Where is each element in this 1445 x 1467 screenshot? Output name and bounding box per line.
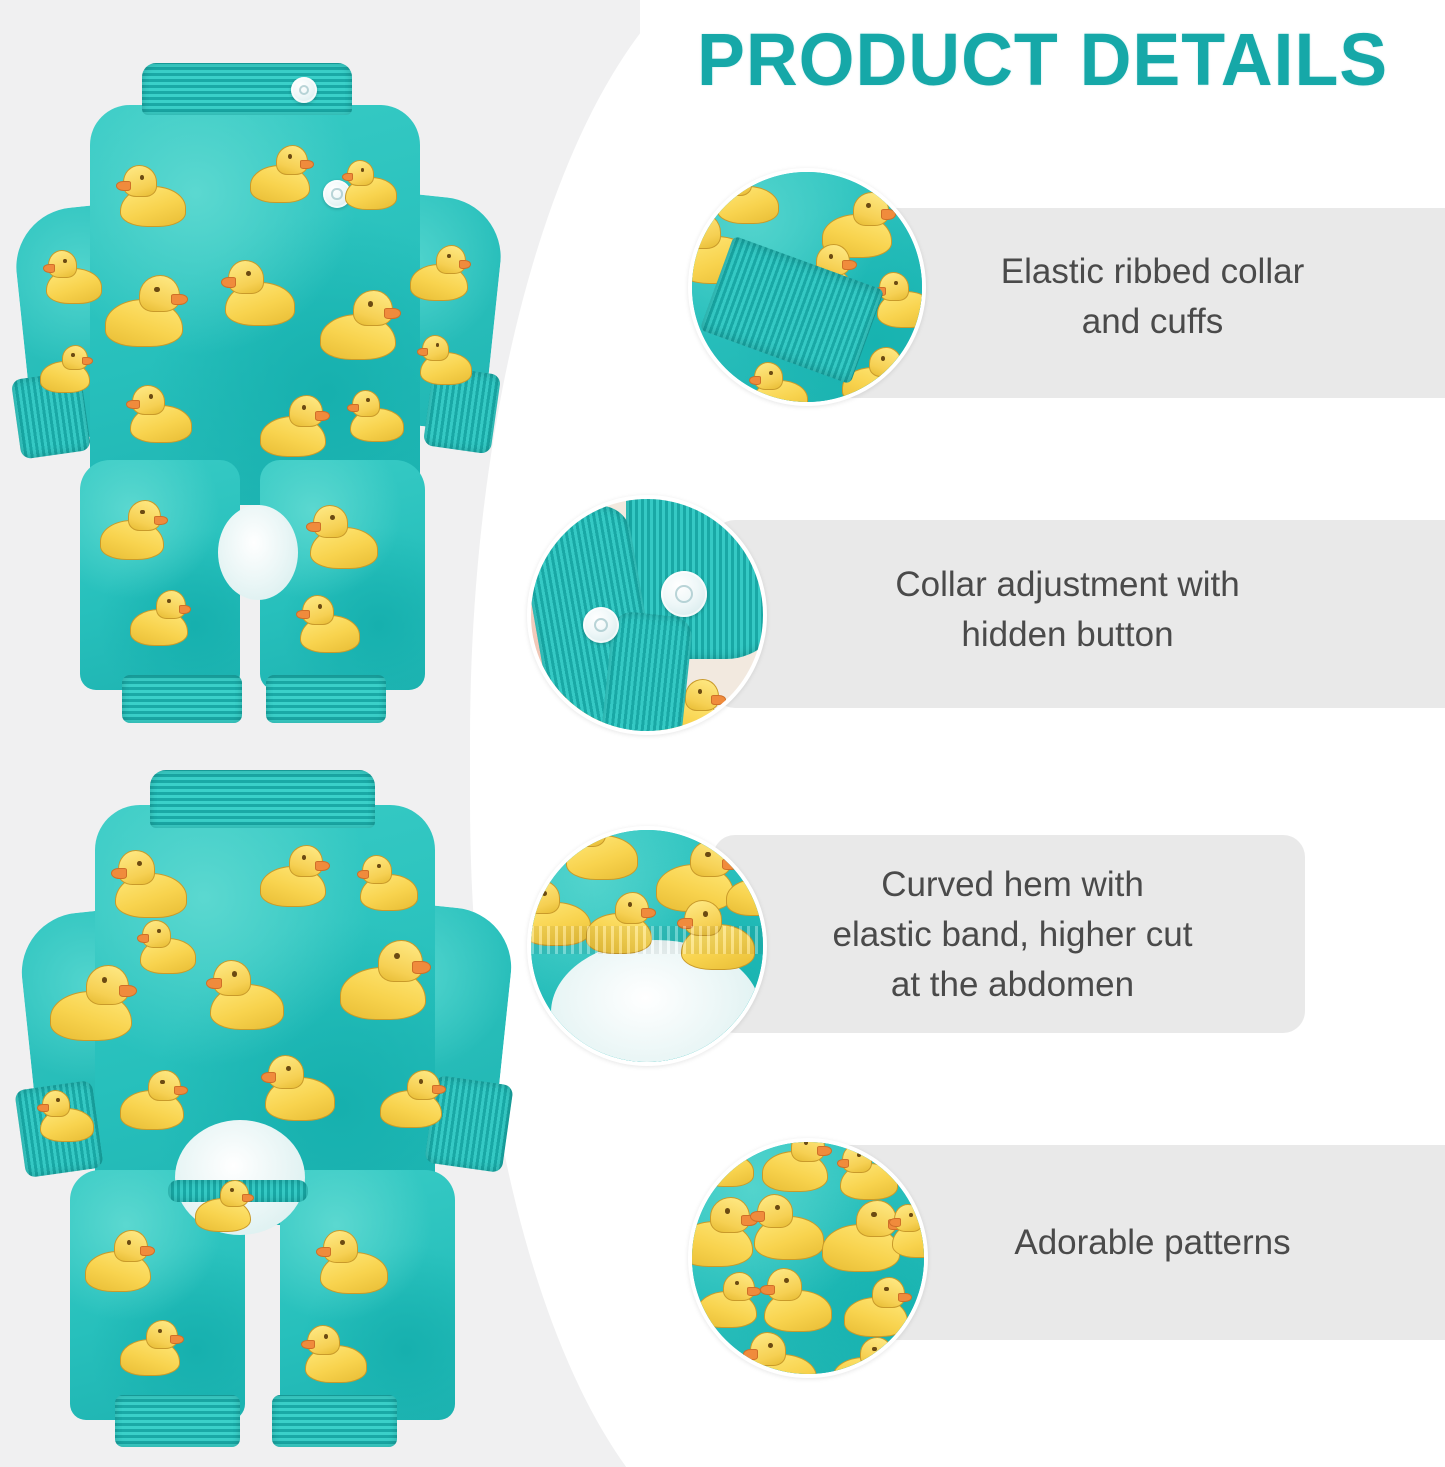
snap-button-primary [661, 571, 707, 617]
feature-4-line-1: Adorable patterns [880, 1218, 1425, 1268]
collar-snap-button [291, 77, 317, 103]
curved-elastic-hem-closeup [527, 826, 767, 1066]
duck-motif [340, 940, 426, 1020]
duck-motif [410, 245, 468, 301]
duck-motif [100, 500, 164, 560]
hind-right-cuff [272, 1395, 397, 1447]
feature-3-line-3: at the abdomen [760, 960, 1265, 1010]
feature-2-label: Collar adjustment with hidden button [795, 560, 1340, 660]
duck-motif [310, 505, 378, 569]
product-photo-front-top [10, 45, 510, 705]
product-details-infographic: PRODUCT DETAILS [0, 0, 1445, 1467]
duck-motif [260, 395, 326, 457]
feature-3-line-1: Curved hem with [760, 860, 1265, 910]
feature-1-label: Elastic ribbed collar and cuffs [880, 247, 1425, 347]
hind-left-cuff [122, 675, 242, 723]
ribbed-collar [142, 63, 352, 115]
snap-button-secondary [583, 607, 619, 643]
duck-motif [50, 965, 132, 1041]
garment-left-leg [80, 460, 240, 690]
duck-motif [380, 1070, 442, 1128]
duck-motif [225, 260, 295, 326]
elastic-gather-band [531, 926, 763, 954]
hidden-snap-button-closeup [527, 495, 767, 735]
duck-motif [320, 290, 396, 360]
feature-1-line-2: and cuffs [880, 297, 1425, 347]
duck-motif [305, 1325, 367, 1383]
duck-motif [360, 855, 418, 911]
duck-motif [260, 845, 326, 907]
feature-4-label: Adorable patterns [880, 1218, 1425, 1268]
feature-2-line-2: hidden button [795, 610, 1340, 660]
duck-motif [130, 590, 188, 646]
duck-motif [195, 1180, 251, 1232]
hind-left-cuff [115, 1395, 240, 1447]
feature-3-label: Curved hem with elastic band, higher cut… [760, 860, 1265, 1010]
duck-motif [250, 145, 310, 203]
duck-motif [40, 345, 90, 393]
duck-motif [115, 850, 187, 918]
duck-motif [140, 920, 196, 974]
duck-motif [105, 275, 183, 347]
duck-motif [420, 335, 472, 385]
duck-motif [120, 1320, 180, 1376]
feature-1-line-1: Elastic ribbed collar [880, 247, 1425, 297]
hind-right-cuff [266, 675, 386, 723]
duck-pattern-closeup [688, 1138, 928, 1378]
ribbed-collar [150, 770, 375, 828]
duck-motif [120, 1070, 184, 1130]
duck-motif [350, 390, 404, 442]
page-title: PRODUCT DETAILS [697, 20, 1415, 100]
duck-motif [130, 385, 192, 443]
elastic-ribbed-cuff-closeup [688, 168, 926, 406]
feature-3-line-2: elastic band, higher cut [760, 910, 1265, 960]
duck-motif [85, 1230, 151, 1292]
duck-motif [120, 165, 186, 227]
duck-motif [46, 250, 102, 304]
feature-2-line-1: Collar adjustment with [795, 560, 1340, 610]
duck-motif [320, 1230, 388, 1294]
duck-motif [300, 595, 360, 653]
duck-motif [210, 960, 284, 1030]
product-photo-back-bottom [10, 750, 520, 1440]
duck-motif [265, 1055, 335, 1121]
duck-motif [345, 160, 397, 210]
duck-motif [40, 1090, 94, 1142]
belly-opening [218, 505, 298, 600]
